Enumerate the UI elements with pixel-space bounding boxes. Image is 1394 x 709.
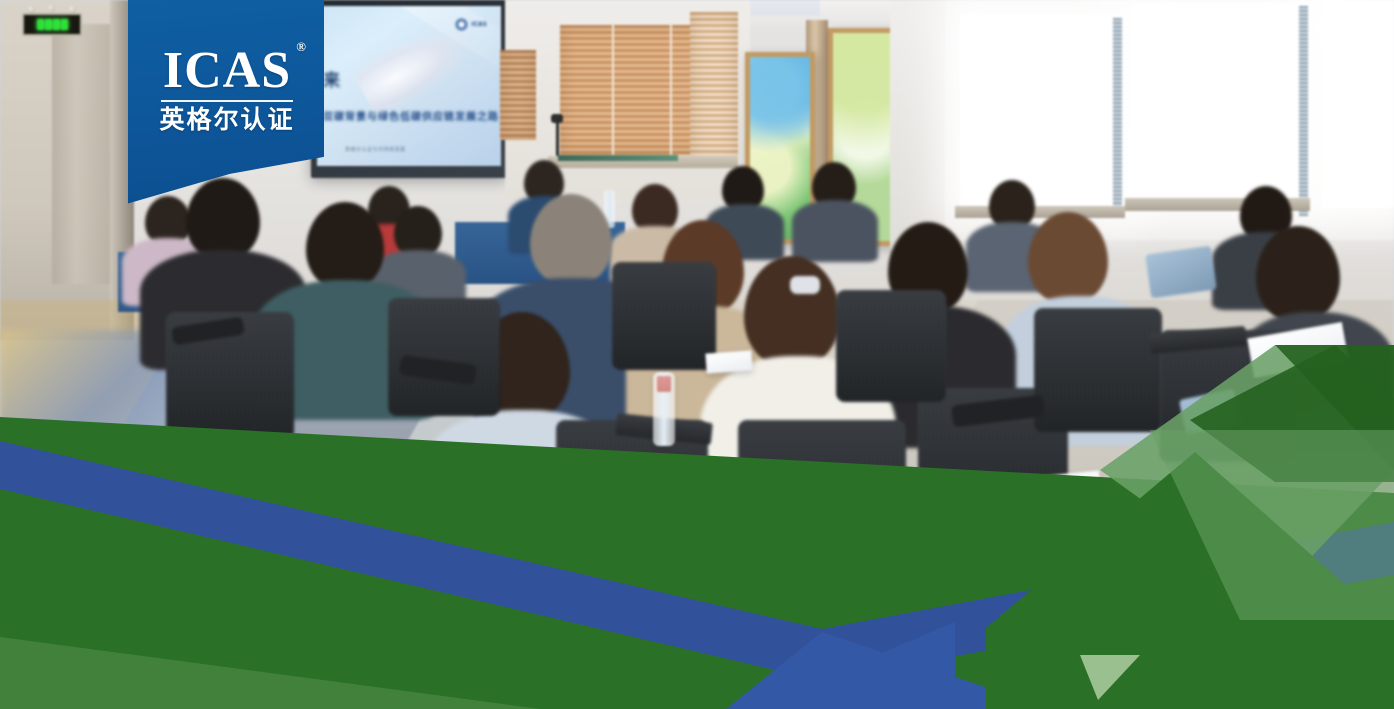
office-chair <box>612 262 716 370</box>
panel-screws <box>28 6 76 12</box>
person-head <box>1256 226 1340 322</box>
window-mullion <box>1299 6 1308 216</box>
person-head <box>306 202 384 290</box>
window-blinds-left <box>500 50 536 140</box>
paper-sheet <box>705 350 752 373</box>
window-pane-2 <box>1127 4 1309 204</box>
slide-logo: ICAS <box>455 18 487 31</box>
brand-name: ICAS <box>163 42 291 99</box>
brand-wordmark: ICAS® <box>152 44 302 98</box>
slide-title: 来 <box>323 66 341 91</box>
office-chair <box>1034 308 1162 432</box>
office-chair <box>836 290 946 402</box>
hair-clip <box>790 276 820 294</box>
person-head <box>186 178 260 260</box>
blind-divider <box>670 25 672 155</box>
slide-subtitle: 双碳背景与绿色低碳供应链发展之路 <box>323 108 499 123</box>
slide-footnote: 英格尔认证与可持续发展 <box>345 146 406 153</box>
led-display-icon <box>22 13 82 36</box>
person-head <box>744 256 840 368</box>
person-head <box>530 194 612 286</box>
person-head <box>1028 212 1108 304</box>
office-chair <box>556 420 708 570</box>
sill-accent <box>558 155 678 161</box>
person-body <box>792 200 878 262</box>
window-blinds-right <box>690 12 738 162</box>
blind-divider <box>612 25 614 155</box>
slide-logo-text: ICAS <box>471 21 487 28</box>
window-pane-1 <box>960 14 1115 206</box>
banner-canvas: 来 双碳背景与绿色低碳供应链发展之路 英格尔认证与可持续发展 ICAS <box>0 0 1394 709</box>
brand-name-chinese: 英格尔认证 <box>152 106 302 134</box>
logo-divider <box>161 100 293 102</box>
projection-screen: 来 双碳背景与绿色低碳供应链发展之路 英格尔认证与可持续发展 ICAS <box>317 6 501 166</box>
slide-logo-ring-icon <box>455 18 468 31</box>
icas-logo: ICAS® 英格尔认证 <box>152 44 302 134</box>
water-bottle <box>653 372 675 446</box>
window-pane-3 <box>1322 0 1394 208</box>
microphone-stand <box>556 120 559 156</box>
registered-trademark-icon: ® <box>296 40 307 53</box>
tablet-device <box>1145 246 1216 299</box>
window-mullion <box>1113 18 1122 216</box>
window-ledge <box>955 206 1125 218</box>
